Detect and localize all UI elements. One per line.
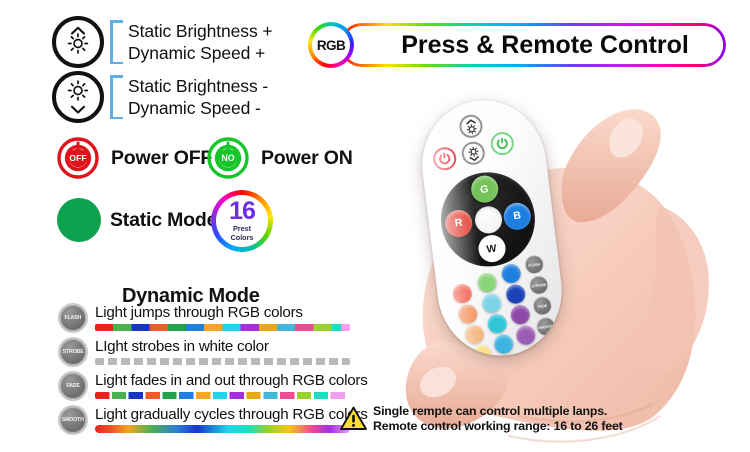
- remote-flash-button[interactable]: FLASH: [524, 254, 545, 275]
- sun-icon: [67, 33, 89, 60]
- brightness-up-icon: [52, 16, 104, 68]
- remote-color-button[interactable]: [464, 324, 485, 345]
- infographic-canvas: RGB Press & Remote Control: [0, 0, 750, 452]
- warning-line2: Remote control working range: 16 to 26 f…: [373, 419, 623, 434]
- flash-description: Light jumps through RGB colors: [95, 305, 350, 322]
- sun-icon: [67, 80, 89, 107]
- header-banner: RGB Press & Remote Control: [308, 22, 726, 68]
- flash-button-label: FLASH: [65, 315, 82, 321]
- remote-white-button[interactable]: W: [476, 234, 506, 264]
- remote-red-button[interactable]: R: [444, 208, 474, 238]
- remote-green-button[interactable]: G: [469, 174, 499, 204]
- preset-count: 16: [229, 199, 255, 224]
- remote-color-button[interactable]: [487, 313, 508, 334]
- fade-description: Light fades in and out through RGB color…: [95, 373, 368, 390]
- page-title: Press & Remote Control: [377, 31, 689, 60]
- preset-badge-inner: 16 Prest Colors: [216, 195, 268, 247]
- power-on-icon: NO: [207, 137, 249, 179]
- remote-brightness-up-button[interactable]: [458, 113, 484, 139]
- strobe-description: LIght strobes in white color: [95, 339, 350, 356]
- product-photo: G B R W FLASH STROBE FADE: [368, 86, 750, 452]
- preset-colors-badge: 16 Prest Colors: [211, 190, 273, 252]
- svg-text:NO: NO: [221, 153, 234, 163]
- preset-caption-line2: Colors: [231, 234, 254, 242]
- warning-line1: Single rempte can control multiple lanps…: [373, 404, 623, 419]
- remote-power-on-button[interactable]: [489, 131, 515, 157]
- smooth-description-block: Light gradually cycles through RGB color…: [95, 407, 368, 434]
- warning-triangle-icon: [340, 406, 367, 431]
- remote-wheel-center-button[interactable]: [473, 204, 503, 234]
- remote-strobe-button[interactable]: STROBE: [528, 275, 549, 296]
- remote-color-button[interactable]: [493, 333, 514, 354]
- bracket-connector: [110, 20, 123, 64]
- remote-color-button[interactable]: [501, 263, 522, 284]
- strobe-description-block: LIght strobes in white color: [95, 339, 350, 365]
- smooth-color-bar: [95, 425, 350, 433]
- brightness-up-line2: Dynamic Speed +: [128, 42, 273, 64]
- brightness-up-labels: Static Brightness + Dynamic Speed +: [128, 20, 273, 64]
- remote-color-button[interactable]: [452, 283, 473, 304]
- brightness-up-row: Static Brightness + Dynamic Speed +: [52, 16, 273, 68]
- brightness-down-row: Static Brightness - Dynamic Speed -: [52, 71, 268, 123]
- warning-note: Single rempte can control multiple lanps…: [340, 404, 623, 433]
- remote-color-wheel[interactable]: G B R W: [436, 167, 541, 272]
- rgb-badge: RGB: [308, 22, 354, 68]
- fade-button-icon: FADE: [58, 371, 88, 401]
- flash-color-bar: [95, 324, 350, 331]
- power-on-row: NO Power ON: [207, 137, 353, 179]
- strobe-button-icon: STROBE: [58, 337, 88, 367]
- rgb-badge-label: RGB: [317, 38, 345, 53]
- rgb-badge-inner: RGB: [312, 26, 350, 64]
- remote-color-button[interactable]: [510, 304, 531, 325]
- power-off-icon: OFF: [57, 137, 99, 179]
- flash-description-block: Light jumps through RGB colors: [95, 305, 350, 331]
- power-on-label: Power ON: [261, 147, 353, 170]
- brightness-up-line1: Static Brightness +: [128, 20, 273, 42]
- remote-color-button[interactable]: [515, 325, 536, 346]
- dynamic-mode-row-strobe: STROBE LIght strobes in white color: [58, 337, 350, 367]
- strobe-button-label: STROBE: [62, 349, 83, 355]
- header-pill-inner: Press & Remote Control: [343, 26, 722, 63]
- dynamic-mode-row-fade: FADE Light fades in and out through RGB …: [58, 371, 368, 401]
- brightness-down-line2: Dynamic Speed -: [128, 97, 268, 119]
- brightness-down-line1: Static Brightness -: [128, 75, 268, 97]
- remote-fade-button[interactable]: FADE: [532, 295, 553, 316]
- brightness-down-labels: Static Brightness - Dynamic Speed -: [128, 75, 268, 119]
- remote-color-button[interactable]: [457, 304, 478, 325]
- smooth-button-label: SMOOTH: [62, 417, 84, 423]
- dynamic-mode-row-flash: FLASH Light jumps through RGB colors: [58, 303, 350, 333]
- fade-color-bar: [95, 392, 350, 399]
- power-off-row: OFF Power OFF: [57, 137, 212, 179]
- chevron-down-icon: [71, 105, 86, 114]
- static-mode-color-dot: [57, 198, 101, 242]
- power-off-label: Power OFF: [111, 147, 212, 170]
- strobe-color-bar: [95, 358, 350, 365]
- dynamic-mode-row-smooth: SMOOTH Light gradually cycles through RG…: [58, 405, 368, 435]
- remote-color-button[interactable]: [481, 293, 502, 314]
- warning-text-block: Single rempte can control multiple lanps…: [373, 404, 623, 433]
- svg-text:OFF: OFF: [69, 153, 86, 163]
- static-mode-label: Static Mode: [110, 209, 217, 232]
- smooth-description: Light gradually cycles through RGB color…: [95, 407, 368, 424]
- preset-caption: Prest Colors: [231, 225, 254, 241]
- remote-power-off-button[interactable]: [432, 146, 458, 172]
- brightness-down-icon: [52, 71, 104, 123]
- remote-blue-button[interactable]: B: [502, 201, 532, 231]
- remote-brightness-down-button[interactable]: [460, 140, 486, 166]
- smooth-button-icon: SMOOTH: [58, 405, 88, 435]
- remote-color-button[interactable]: [477, 272, 498, 293]
- remote-color-button[interactable]: [505, 284, 526, 305]
- fade-button-label: FADE: [66, 383, 79, 389]
- header-pill: Press & Remote Control: [340, 23, 726, 67]
- fade-description-block: Light fades in and out through RGB color…: [95, 373, 368, 399]
- bracket-connector: [110, 75, 123, 119]
- flash-button-icon: FLASH: [58, 303, 88, 333]
